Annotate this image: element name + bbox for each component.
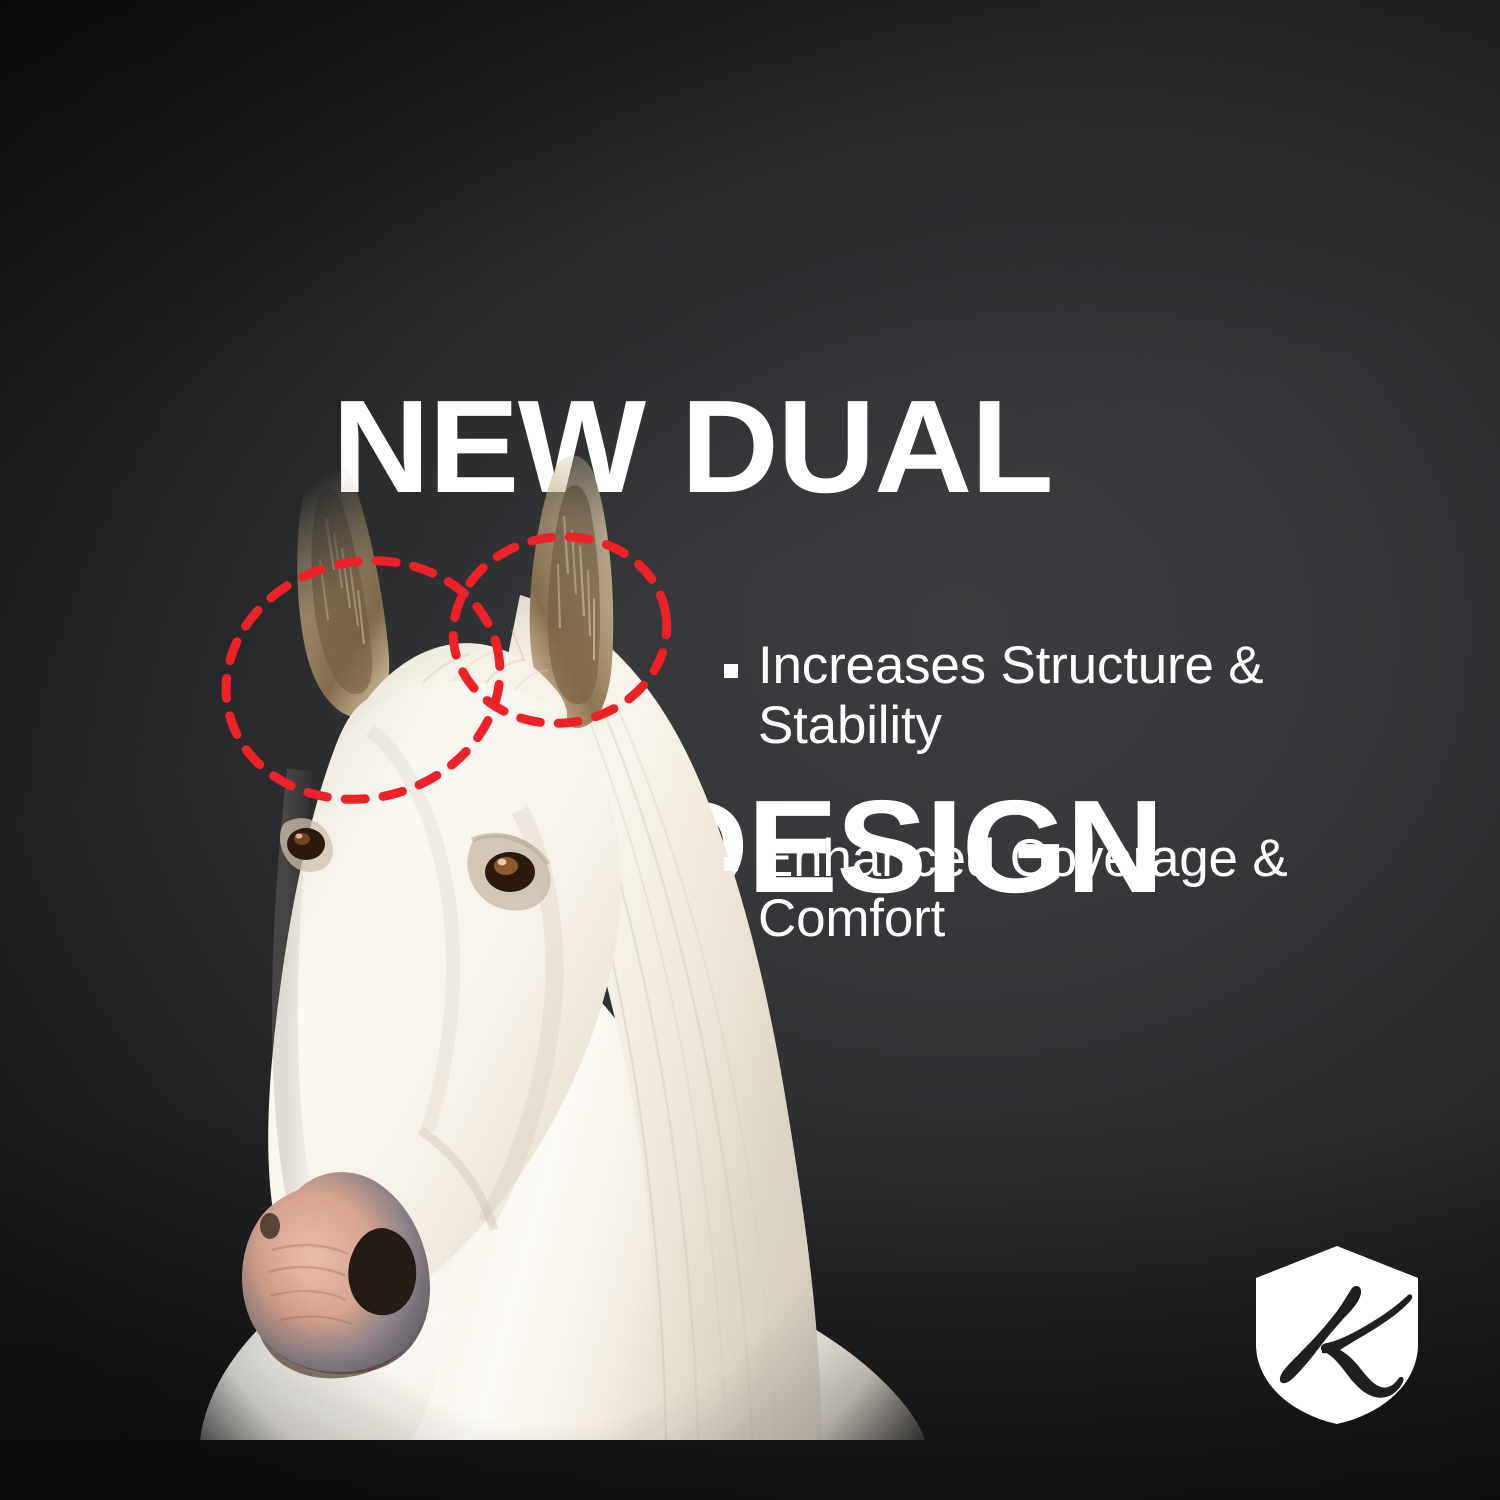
promo-graphic: NEW DUAL EAR DESIGN xyxy=(0,0,1500,1500)
right-ear-highlight-ellipse xyxy=(441,523,679,737)
shield-k-icon xyxy=(1248,1244,1426,1426)
list-item-label: Increases Structure & Stability xyxy=(758,636,1418,757)
list-item-label: Enhanced Coverage & Comfort xyxy=(758,829,1418,950)
brand-logo xyxy=(1248,1244,1426,1426)
square-bullet-icon xyxy=(724,664,738,678)
list-item: Increases Structure & Stability xyxy=(724,636,1424,757)
list-item: Enhanced Coverage & Comfort xyxy=(724,829,1424,950)
square-bullet-icon xyxy=(724,857,738,871)
feature-list: Increases Structure & Stability Enhanced… xyxy=(724,636,1424,950)
shield-shape xyxy=(1256,1246,1418,1424)
